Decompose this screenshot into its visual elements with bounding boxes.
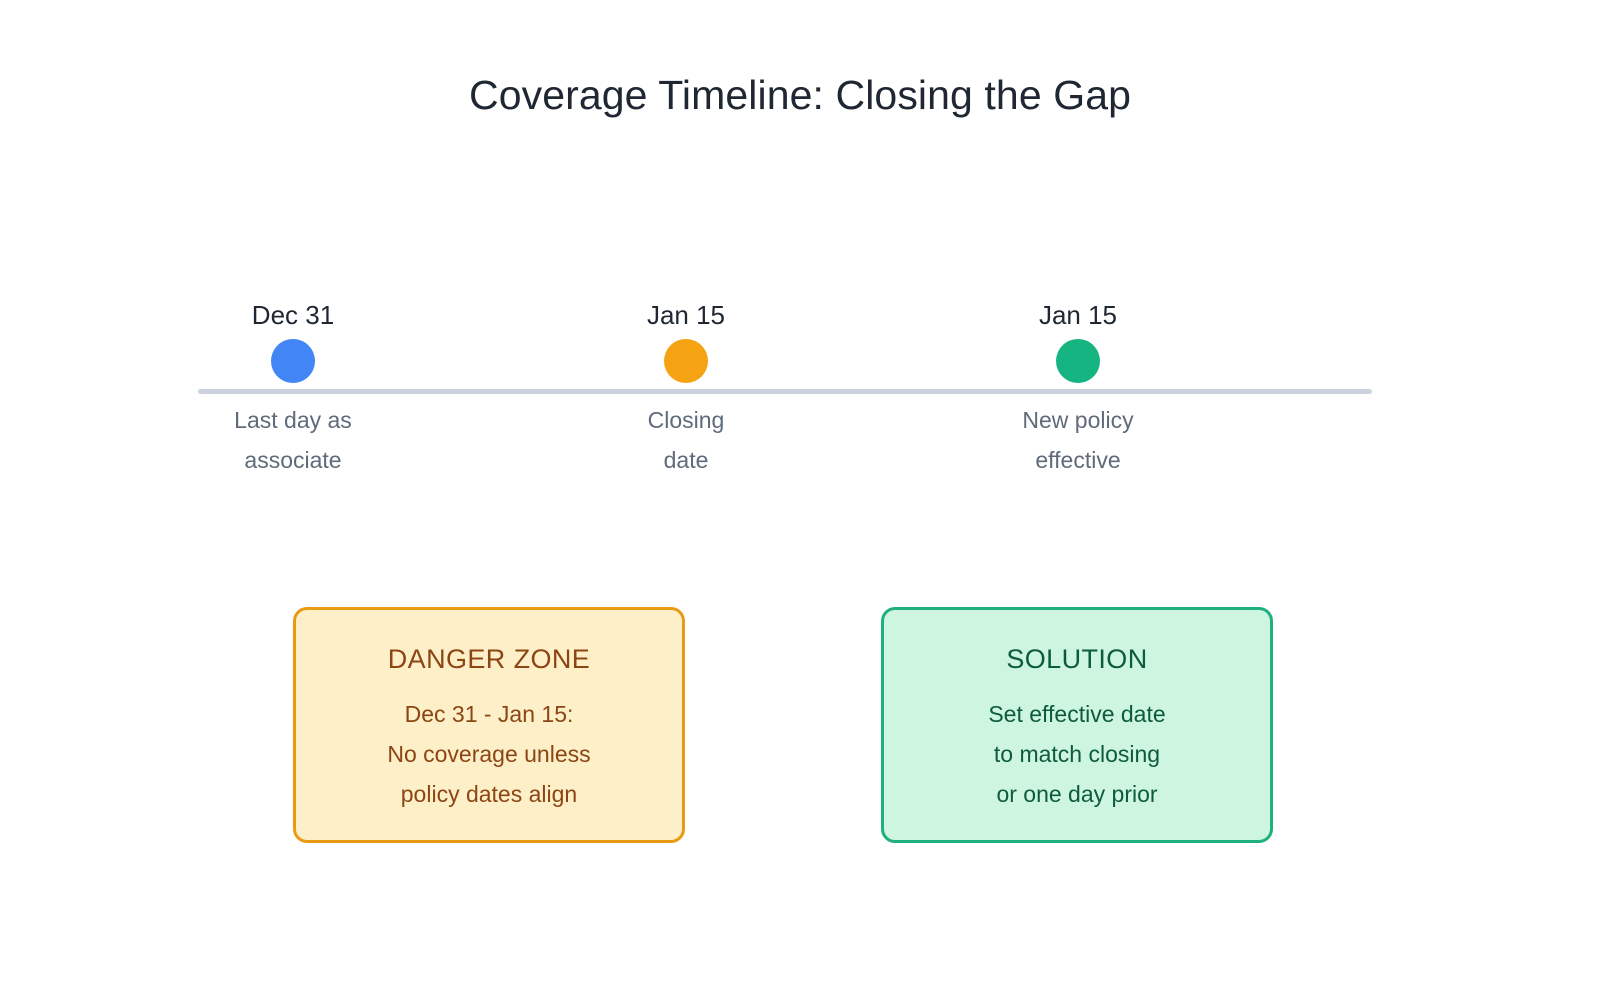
danger-zone-card: DANGER ZONE Dec 31 - Jan 15: No coverage… [293,607,685,843]
timeline-milestone-2: Jan 15 Closing date [556,300,816,480]
milestone-date-label: Jan 15 [948,300,1208,332]
solution-line-3: or one day prior [884,774,1270,814]
milestone-dot-wrapper [163,332,423,390]
page-title: Coverage Timeline: Closing the Gap [0,72,1600,119]
milestone-dot-icon[interactable] [271,339,315,383]
solution-body: Set effective date to match closing or o… [884,694,1270,814]
milestone-description-line-1: New policy [948,400,1208,440]
milestone-date-label: Dec 31 [163,300,423,332]
danger-zone-line-3: policy dates align [296,774,682,814]
danger-zone-body: Dec 31 - Jan 15: No coverage unless poli… [296,694,682,814]
solution-heading: SOLUTION [884,642,1270,676]
danger-zone-heading: DANGER ZONE [296,642,682,676]
timeline: Dec 31 Last day as associate Jan 15 Clos… [0,300,1600,520]
milestone-date-label: Jan 15 [556,300,816,332]
danger-zone-line-1: Dec 31 - Jan 15: [296,694,682,734]
milestone-description-line-2: associate [163,440,423,480]
solution-card: SOLUTION Set effective date to match clo… [881,607,1273,843]
danger-zone-line-2: No coverage unless [296,734,682,774]
milestone-dot-icon[interactable] [664,339,708,383]
solution-line-1: Set effective date [884,694,1270,734]
milestone-description-line-1: Closing [556,400,816,440]
solution-line-2: to match closing [884,734,1270,774]
milestone-dot-wrapper [948,332,1208,390]
timeline-milestone-3: Jan 15 New policy effective [948,300,1208,480]
milestone-description: Last day as associate [163,400,423,480]
timeline-milestone-1: Dec 31 Last day as associate [163,300,423,480]
milestone-dot-wrapper [556,332,816,390]
milestone-description: Closing date [556,400,816,480]
milestone-description: New policy effective [948,400,1208,480]
milestone-description-line-2: effective [948,440,1208,480]
milestone-description-line-2: date [556,440,816,480]
milestone-dot-icon[interactable] [1056,339,1100,383]
milestone-description-line-1: Last day as [163,400,423,440]
